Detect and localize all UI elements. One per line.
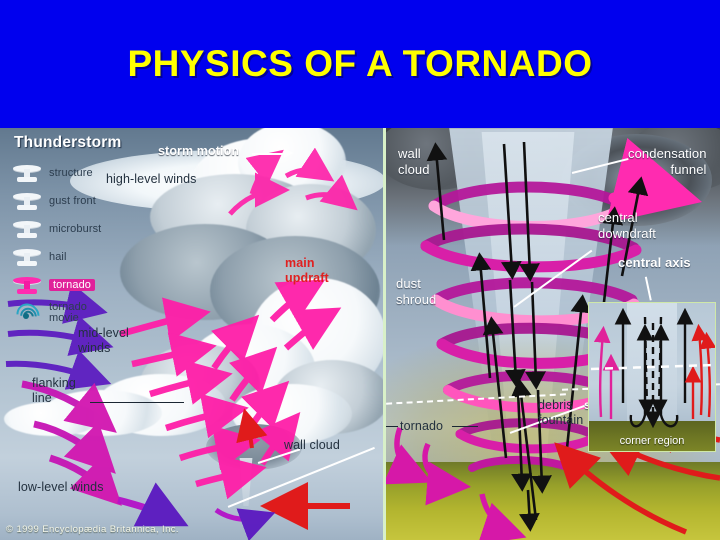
legend-item-label: hail: [49, 251, 67, 263]
label-wall-cloud-right: wall cloud: [398, 146, 430, 178]
label-low-level-winds: low-level winds: [18, 480, 104, 494]
title-bar: PHYSICS OF A TORNADO: [0, 0, 720, 128]
tornado-figure: Thunderstorm structure gust front: [0, 128, 720, 540]
legend-item-gust-front[interactable]: gust front: [12, 187, 158, 215]
label-mid-level-winds: mid-level winds: [78, 326, 129, 356]
legend-item-label: tornado: [49, 279, 95, 291]
legend-item-label: microburst: [49, 223, 101, 235]
corner-region-inset: corner region: [588, 302, 716, 452]
label-wall-cloud-left: wall cloud: [284, 438, 340, 452]
tornado-leader-right: [452, 426, 478, 427]
label-debris-fountain: debris fountain: [538, 398, 583, 428]
radar-sweep-icon: [12, 302, 42, 324]
label-main-updraft: main updraft: [285, 256, 329, 286]
storm-motion-arrow-icon: [252, 153, 288, 155]
anvil-cloud-icon: [12, 218, 42, 240]
tornado-detail-panel: corner region wall cloud condensation fu…: [386, 128, 720, 540]
legend-item-label: gust front: [49, 195, 96, 207]
anvil-cloud-icon: [12, 162, 42, 184]
legend-item-hail[interactable]: hail: [12, 243, 158, 271]
label-central-axis: central axis: [618, 256, 691, 270]
page-title: PHYSICS OF A TORNADO: [127, 43, 592, 85]
label-storm-motion: storm motion: [158, 144, 239, 158]
legend-item-tornado-movie[interactable]: tornado movie: [12, 299, 158, 327]
thunderstorm-legend: Thunderstorm structure gust front: [8, 134, 158, 327]
label-central-downdraft: central downdraft: [598, 210, 656, 242]
label-flanking-line: flanking line: [32, 376, 76, 406]
legend-item-label: tornado movie: [49, 302, 119, 324]
storm-motion-arrowhead-icon: [284, 148, 293, 158]
label-condensation-funnel: condensation funnel: [628, 146, 707, 178]
copyright-notice: © 1999 Encyclopædia Britannica, Inc.: [6, 524, 179, 535]
label-corner-region: corner region: [589, 435, 715, 447]
legend-title: Thunderstorm: [14, 134, 158, 152]
flanking-line-leader: [90, 402, 184, 403]
legend-item-label: structure: [49, 167, 93, 179]
legend-item-structure[interactable]: structure: [12, 159, 158, 187]
tornado-leader-left: [386, 426, 398, 427]
legend-item-microburst[interactable]: microburst: [12, 215, 158, 243]
label-dust-shroud: dust shroud: [396, 276, 436, 308]
legend-item-tornado[interactable]: tornado: [12, 271, 158, 299]
label-tornado-right: tornado: [400, 419, 443, 433]
panel-divider: [383, 128, 386, 540]
anvil-cloud-icon: [12, 246, 42, 268]
slide: PHYSICS OF A TORNADO: [0, 0, 720, 540]
thunderstorm-panel: Thunderstorm structure gust front: [0, 128, 384, 540]
anvil-cloud-icon: [12, 274, 42, 296]
anvil-cloud-icon: [12, 190, 42, 212]
